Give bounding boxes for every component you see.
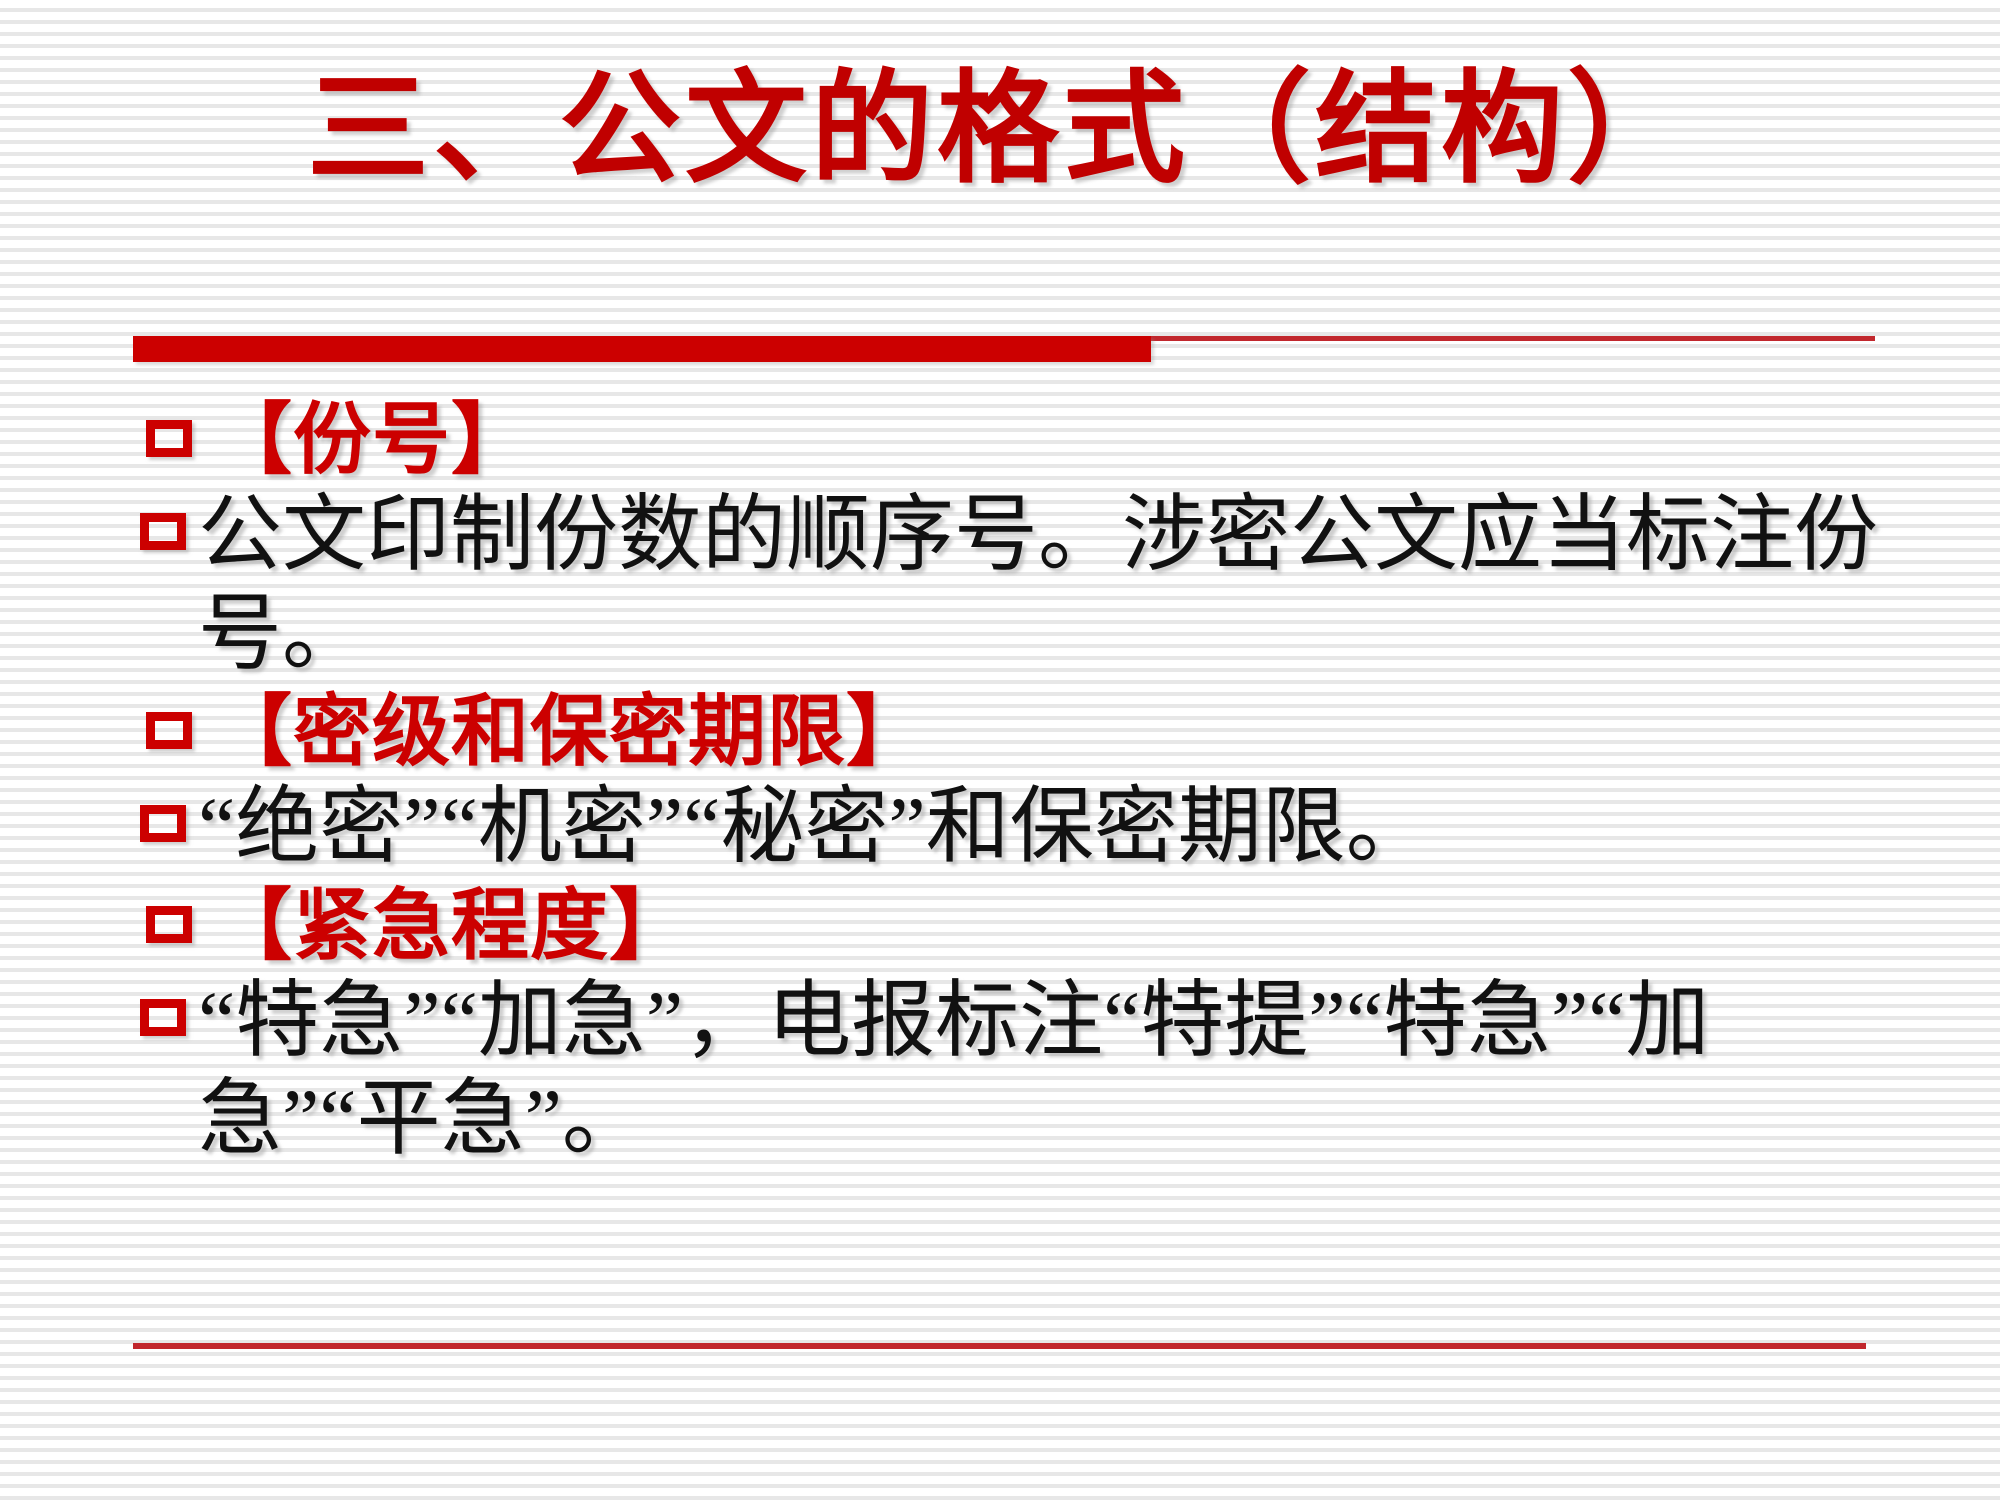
page-title: 三、公文的格式（结构） [307, 58, 1693, 202]
square-bullet-icon [140, 513, 186, 550]
list-item: 公文印制份数的顺序号。涉密公文应当标注份号。 [140, 487, 1930, 684]
square-bullet-icon [146, 420, 192, 457]
slide-canvas: 三、公文的格式（结构） 【份号】 公文印制份数的顺序号。涉密公文应当标注份号。 … [0, 0, 2000, 1500]
list-item: 【密级和保密期限】 [140, 688, 1930, 775]
square-bullet-icon [146, 712, 192, 749]
bottom-divider [133, 1343, 1866, 1349]
square-bullet-icon [140, 999, 186, 1036]
list-item-label: “绝密”“机密”“秘密”和保密期限。 [198, 779, 1930, 877]
list-item-label: 【密级和保密期限】 [214, 688, 1930, 775]
list-item-label: “特急”“加急”，电报标注“特提”“特急”“加急”“平急”。 [198, 973, 1930, 1170]
slide-title-block: 三、公文的格式（结构） [0, 58, 2000, 202]
list-item-label: 【紧急程度】 [214, 882, 1930, 969]
list-item-label: 【份号】 [214, 396, 1930, 483]
list-item: 【份号】 [140, 396, 1930, 483]
list-item: “特急”“加急”，电报标注“特提”“特急”“加急”“平急”。 [140, 973, 1930, 1170]
list-item-label: 公文印制份数的顺序号。涉密公文应当标注份号。 [198, 487, 1930, 684]
bullet-list: 【份号】 公文印制份数的顺序号。涉密公文应当标注份号。 【密级和保密期限】 “绝… [140, 396, 1930, 1169]
list-item: 【紧急程度】 [140, 882, 1930, 969]
title-divider-thick-bar [133, 336, 1151, 362]
title-divider [133, 336, 1875, 362]
square-bullet-icon [146, 906, 192, 943]
square-bullet-icon [140, 805, 186, 842]
list-item: “绝密”“机密”“秘密”和保密期限。 [140, 779, 1930, 877]
